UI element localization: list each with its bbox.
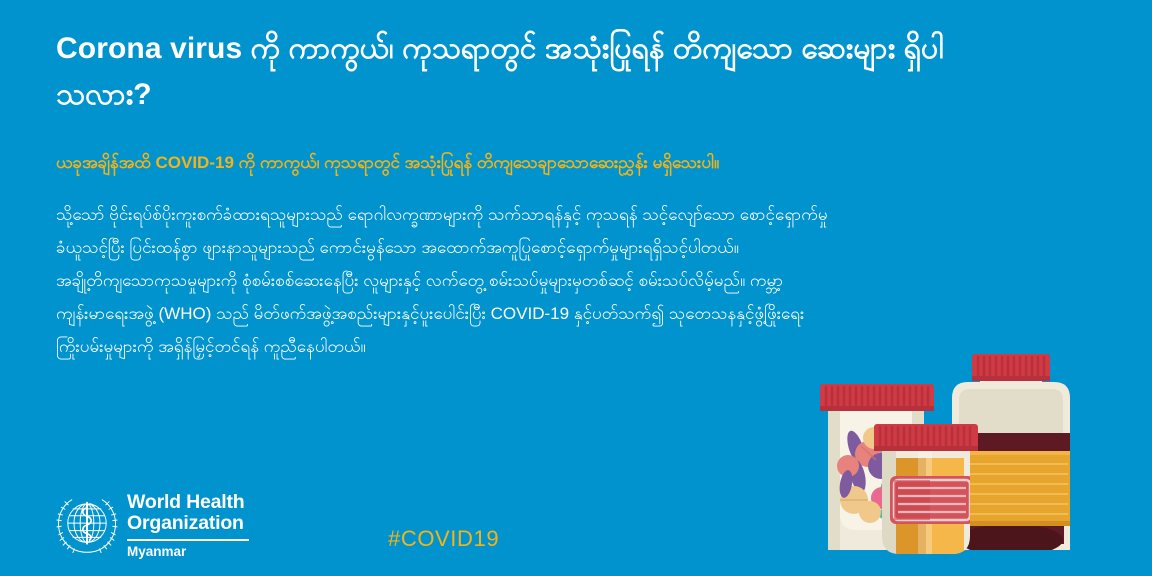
who-wordmark-line2: Organization — [127, 514, 249, 534]
who-wordmark-line1: World Health — [127, 493, 249, 513]
medicine-bottles-illustration — [818, 354, 1108, 576]
footer: World Health Organization Myanmar — [56, 493, 249, 559]
who-emblem-icon — [56, 494, 118, 556]
subheadline: ယခုအချိန်အထိ COVID-19 ကို ကာကွယ်၊ ကုသရာတ… — [56, 118, 1056, 176]
hashtag-label: #COVID19 — [388, 526, 499, 552]
who-country-label: Myanmar — [127, 545, 249, 559]
who-logo-lockup: World Health Organization Myanmar — [56, 493, 249, 559]
body-copy: သို့သော် ဗိုင်းရပ်စ်ပိုးကူးစက်ခံထားရသူမျ… — [56, 176, 846, 363]
poster-canvas: Corona virus ကို ကာကွယ်၊ ကုသရာတွင် အသုံး… — [0, 0, 1152, 576]
body-paragraph-1: သို့သော် ဗိုင်းရပ်စ်ပိုးကူးစက်ခံထားရသူမျ… — [56, 198, 846, 264]
text-column: Corona virus ကို ကာကွယ်၊ ကုသရာတွင် အသုံး… — [56, 26, 1056, 363]
body-paragraph-2: အချို့တိကျသောကုသမှုများကို စုံစမ်းစစ်ဆေး… — [56, 264, 846, 363]
who-wordmark: World Health Organization Myanmar — [127, 493, 249, 559]
page-title: Corona virus ကို ကာကွယ်၊ ကုသရာတွင် အသုံး… — [56, 26, 1036, 118]
syrup-jar — [874, 424, 978, 560]
who-divider — [127, 539, 249, 541]
